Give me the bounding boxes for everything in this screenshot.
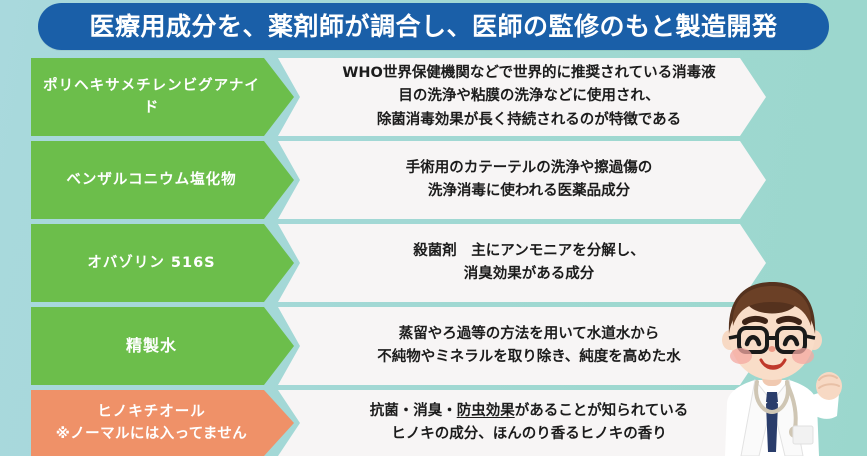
page-title: 医療用成分を、薬剤師が調合し、医師の監修のもと製造開発: [89, 14, 777, 39]
description-line: 目の洗浄や粘膜の洗浄などに使用され、: [314, 85, 744, 108]
ingredient-description-panel: 殺菌剤 主にアンモニアを分解し、 消臭効果がある成分: [278, 224, 766, 302]
description-line: 不純物やミネラルを取り除き、純度を高めた水: [314, 346, 744, 369]
ingredient-description-panel: WHO世界保健機関などで世界的に推奨されている消毒液 目の洗浄や粘膜の洗浄などに…: [278, 58, 766, 136]
ingredient-name: ポリヘキサメチレンビグアナイド: [43, 75, 261, 120]
ingredient-name-line2: ※ノーマルには入ってません: [43, 423, 261, 445]
description-line: 殺菌剤 主にアンモニアを分解し、: [314, 240, 744, 263]
ingredient-row: WHO世界保健機関などで世界的に推奨されている消毒液 目の洗浄や粘膜の洗浄などに…: [0, 58, 867, 136]
description-line: WHO世界保健機関などで世界的に推奨されている消毒液: [314, 62, 744, 85]
ingredient-name: 精製水: [43, 334, 261, 359]
ingredient-name-line1: 精製水: [43, 334, 261, 359]
ingredient-name-line1: ベンザルコニウム塩化物: [43, 169, 261, 191]
ingredient-label-arrow: ポリヘキサメチレンビグアナイド: [31, 58, 294, 136]
ingredient-description-panel: 蒸留やろ過等の方法を用いて水道水から 不純物やミネラルを取り除き、純度を高めた水: [278, 307, 766, 385]
page-title-banner: 医療用成分を、薬剤師が調合し、医師の監修のもと製造開発: [38, 3, 829, 50]
description-segment-suffix: があることが知られている: [515, 403, 689, 419]
ingredient-row: 手術用のカテーテルの洗浄や擦過傷の 洗浄消毒に使われる医薬品成分 ベンザルコニウ…: [0, 141, 867, 219]
description-line: 除菌消毒効果が長く持続されるのが特徴である: [314, 109, 744, 132]
ingredient-label-arrow: オバゾリン 516S: [31, 224, 294, 302]
description-line: ヒノキの成分、ほんのり香るヒノキの香り: [314, 423, 744, 446]
ingredient-name: オバゾリン 516S: [43, 252, 261, 274]
ingredient-description: 蒸留やろ過等の方法を用いて水道水から 不純物やミネラルを取り除き、純度を高めた水: [314, 323, 744, 370]
ingredient-description: 抗菌・消臭・防虫効果があることが知られている ヒノキの成分、ほんのり香るヒノキの…: [314, 400, 744, 447]
ingredient-name: ヒノキチオール ※ノーマルには入ってません: [43, 401, 261, 446]
ingredient-description: 殺菌剤 主にアンモニアを分解し、 消臭効果がある成分: [314, 240, 744, 287]
doctor-illustration: [697, 276, 847, 456]
ingredient-label-arrow: 精製水: [31, 307, 294, 385]
description-line: 蒸留やろ過等の方法を用いて水道水から: [314, 323, 744, 346]
description-segment-prefix: 抗菌・消臭・: [370, 403, 457, 419]
description-underlined-term: 防虫効果: [457, 403, 515, 419]
ingredient-description-panel: 抗菌・消臭・防虫効果があることが知られている ヒノキの成分、ほんのり香るヒノキの…: [278, 390, 766, 456]
ingredient-description-panel: 手術用のカテーテルの洗浄や擦過傷の 洗浄消毒に使われる医薬品成分: [278, 141, 766, 219]
ingredient-name-line1: ポリヘキサメチレンビグアナイド: [43, 75, 261, 120]
ingredient-label-arrow: ベンザルコニウム塩化物: [31, 141, 294, 219]
description-line: 洗浄消毒に使われる医薬品成分: [314, 180, 744, 203]
ingredient-name: ベンザルコニウム塩化物: [43, 169, 261, 191]
description-line: 抗菌・消臭・防虫効果があることが知られている: [314, 400, 744, 423]
ingredient-description: WHO世界保健機関などで世界的に推奨されている消毒液 目の洗浄や粘膜の洗浄などに…: [314, 62, 744, 132]
ingredient-name-line1: オバゾリン 516S: [43, 252, 261, 274]
description-line: 手術用のカテーテルの洗浄や擦過傷の: [314, 157, 744, 180]
ingredient-label-arrow: ヒノキチオール ※ノーマルには入ってません: [31, 390, 294, 456]
infographic-canvas: 医療用成分を、薬剤師が調合し、医師の監修のもと製造開発 WHO世界保健機関などで…: [0, 0, 867, 456]
description-line: 消臭効果がある成分: [314, 263, 744, 286]
ingredient-name-line1: ヒノキチオール: [43, 401, 261, 423]
ingredient-description: 手術用のカテーテルの洗浄や擦過傷の 洗浄消毒に使われる医薬品成分: [314, 157, 744, 204]
